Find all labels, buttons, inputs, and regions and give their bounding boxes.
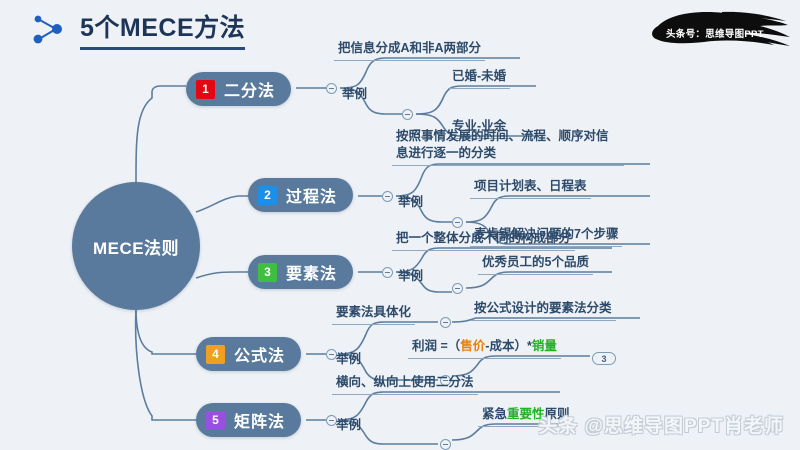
branch-node-4[interactable]: 4 公式法 <box>196 337 301 371</box>
formula-middle: -成本）* <box>485 339 532 353</box>
branch-badge-2: 2 <box>258 186 277 205</box>
sub-label-branch-1: 举例 <box>342 83 367 102</box>
formula-prefix: 利润 =（ <box>412 339 460 353</box>
leaf-branch-5-description: 横向、纵向上使用二分法 <box>332 374 478 395</box>
branch-label-4: 公式法 <box>234 342 285 366</box>
branch-label-1: 二分法 <box>224 77 275 101</box>
center-node-label: MECE法则 <box>93 234 179 259</box>
branch-badge-5: 5 <box>206 411 225 430</box>
formula-highlight-2: 销量 <box>532 339 557 353</box>
leaf-branch-3-example-1: 优秀员工的5个品质 <box>478 254 593 275</box>
leaf-branch-1-description: 把信息分成A和非A两部分 <box>334 40 485 61</box>
branch-node-3[interactable]: 3 要素法 <box>248 255 353 289</box>
branch-label-2: 过程法 <box>286 183 337 207</box>
center-node[interactable]: MECE法则 <box>72 182 200 310</box>
mindmap-canvas: 5个MECE方法 MECE法则 1 二分法 把信息分成A和非A两部分 举例 已婚… <box>0 0 800 450</box>
leaf-branch-2-description: 按照事情发展的时间、流程、顺序对信息进行逐一的分类 <box>392 128 624 166</box>
collapse-toggle-branch-2[interactable] <box>382 191 393 202</box>
branch-badge-4: 4 <box>206 345 225 364</box>
example-prefix: 紧急 <box>482 407 507 421</box>
collapse-toggle-branch-4-description[interactable] <box>440 317 451 328</box>
branch-node-2[interactable]: 2 过程法 <box>248 178 353 212</box>
formula-highlight-1: 售价 <box>460 339 485 353</box>
branch-label-3: 要素法 <box>286 260 337 284</box>
leaf-branch-2-example-1: 项目计划表、日程表 <box>470 178 591 199</box>
page-title: 5个MECE方法 <box>80 8 245 50</box>
page-header: 5个MECE方法 <box>26 8 245 50</box>
leaf-branch-3-description: 把一个整体分成不同的构成部分 <box>392 230 575 251</box>
top-right-watermark: 头条号：思维导图PPT <box>648 6 794 52</box>
branch-label-5: 矩阵法 <box>234 408 285 432</box>
leaf-branch-1-example-1: 已婚-未婚 <box>448 68 510 89</box>
collapse-toggle-branch-1[interactable] <box>326 83 337 94</box>
brush-watermark-text: 头条号：思维导图PPT <box>666 26 764 40</box>
collapse-toggle-branch-2-examples[interactable] <box>452 217 463 228</box>
node-graph-icon <box>26 9 70 49</box>
sub-label-branch-2: 举例 <box>398 191 423 210</box>
leaf-branch-4-description-child: 按公式设计的要素法分类 <box>470 300 616 321</box>
sub-label-branch-5: 举例 <box>336 414 361 433</box>
branch-badge-3: 3 <box>258 263 277 282</box>
sub-label-branch-3: 举例 <box>398 265 423 284</box>
bottom-right-watermark: 头条 @思维导图PPT肖老师 <box>538 411 784 438</box>
leaf-branch-4-formula: 利润 =（售价-成本）*销量 <box>408 338 561 359</box>
collapse-toggle-branch-3-examples[interactable] <box>452 283 463 294</box>
collapse-toggle-branch-1-examples[interactable] <box>402 109 413 120</box>
collapsed-count-badge-branch-4[interactable]: 3 <box>592 352 616 365</box>
leaf-branch-4-description: 要素法具体化 <box>332 304 415 325</box>
branch-badge-1: 1 <box>196 80 215 99</box>
branch-node-1[interactable]: 1 二分法 <box>186 72 291 106</box>
collapse-toggle-branch-3[interactable] <box>382 267 393 278</box>
branch-node-5[interactable]: 5 矩阵法 <box>196 403 301 437</box>
collapse-toggle-branch-5-examples[interactable] <box>440 439 451 450</box>
sub-label-branch-4: 举例 <box>336 348 361 367</box>
